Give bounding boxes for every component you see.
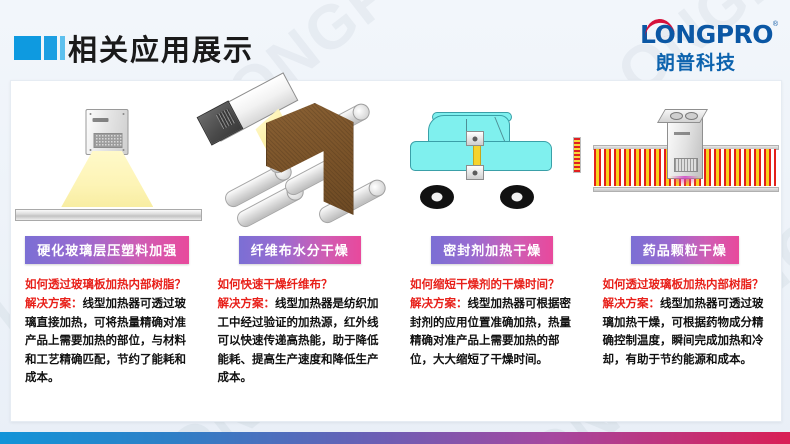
illustration-lamp-over-glass <box>11 81 204 233</box>
accent-bar-icon <box>14 36 41 60</box>
slide: LONGPRO LONGPRO LONGPRO LONGPRO LONGPRO … <box>0 0 790 444</box>
illustration-car-sealant <box>396 81 589 233</box>
panel-text: 如何缩短干燥剂的干燥时间？ 解决方案：线型加热器可根据密封剂的应用位置准确加热，… <box>396 267 589 368</box>
heater-brand-mark <box>93 118 109 122</box>
clamp-bolt-icon <box>473 136 478 141</box>
panel-answer: 解决方案：线型加热器可透过玻璃加热干燥，可根据药物成分精确控制温度，瞬间完成加热… <box>603 294 770 368</box>
brand-logo: LONGPRO ® 朗普科技 <box>640 22 776 70</box>
slide-header: 相关应用展示 LONGPRO ® 朗普科技 <box>0 0 790 80</box>
heater-port-icon <box>670 112 683 120</box>
page-title: 相关应用展示 <box>68 27 254 69</box>
badge-row: 密封剂加热干燥 <box>396 233 589 267</box>
panel-answer: 解决方案：线型加热器可根据密封剂的应用位置准确加热，热量精确对准产品上需要加热的… <box>410 294 577 368</box>
panel-question: 如何快速干燥纤维布？ <box>218 275 385 293</box>
conveyor-belt-bottom <box>593 187 780 192</box>
roller-cap-icon <box>349 101 372 124</box>
panel-question: 如何透过玻璃板加热内部树脂？ <box>25 275 192 293</box>
line-heater-icon <box>667 117 703 179</box>
badge-row: 纤维布水分干燥 <box>204 233 397 267</box>
car-scene <box>396 81 589 233</box>
wheel-hub-icon <box>432 193 443 202</box>
infrared-glow-icon <box>670 176 700 186</box>
fabric-scene <box>204 81 397 233</box>
registered-mark: ® <box>773 21 778 28</box>
heating-element-icon <box>573 137 581 173</box>
panel-text: 如何透过玻璃板加热内部树脂？ 解决方案：线型加热器可透过玻璃加热干燥，可根据药物… <box>589 267 782 368</box>
heater-port-icon <box>685 112 698 120</box>
answer-lead: 解决方案： <box>410 296 468 310</box>
screw-icon <box>90 113 92 115</box>
clamp-bolt-icon <box>473 170 478 175</box>
line-heater-icon <box>86 109 129 155</box>
roller-cap-icon <box>365 177 388 200</box>
badge-row: 药品颗粒干燥 <box>589 233 782 267</box>
heater-vent-icon <box>215 108 235 129</box>
panel-question: 如何缩短干燥剂的干燥时间？ <box>410 275 577 293</box>
panel-fabric-drying: 纤维布水分干燥 如何快速干燥纤维布？ 解决方案：线型加热器是纺织加工中经过验证的… <box>204 81 397 421</box>
panel-badge: 密封剂加热干燥 <box>431 236 553 264</box>
answer-lead: 解决方案： <box>25 296 83 310</box>
accent-bar-icon <box>60 36 65 60</box>
accent-bar-icon <box>44 36 57 60</box>
illustration-fabric-roller <box>204 81 397 233</box>
conveyor-scene <box>589 81 782 233</box>
heater-clamp-icon <box>466 131 484 146</box>
wheel-hub-icon <box>512 193 523 202</box>
screw-icon <box>123 149 125 151</box>
answer-lead: 解决方案： <box>218 296 276 310</box>
logo-chinese-text: 朗普科技 <box>656 48 736 75</box>
panel-answer: 解决方案：线型加热器是纺织加工中经过验证的加热源，红外线可以快速传递高热能，助于… <box>218 294 385 387</box>
panel-question: 如何透过玻璃板加热内部树脂？ <box>603 275 770 293</box>
heater-grille-icon <box>674 158 698 172</box>
panel-badge: 药品颗粒干燥 <box>631 236 739 264</box>
glass-panel-graphic <box>15 209 202 221</box>
heater-brand-mark <box>674 132 690 135</box>
illustration-granule-conveyor <box>589 81 782 233</box>
panel-badge: 硬化玻璃层压塑料加强 <box>25 236 189 264</box>
header-accent-bars <box>14 36 65 60</box>
badge-row: 硬化玻璃层压塑料加强 <box>11 233 204 267</box>
heater-clamp-icon <box>466 165 484 180</box>
car-wheel-icon <box>420 185 454 209</box>
panel-pharma-granule: 药品颗粒干燥 如何透过玻璃板加热内部树脂？ 解决方案：线型加热器可透过玻璃加热干… <box>589 81 782 421</box>
screw-icon <box>90 149 92 151</box>
panel-answer: 解决方案：线型加热器可透过玻璃直接加热，可将热量精确对准产品上需要加热的部位，与… <box>25 294 192 387</box>
answer-lead: 解决方案： <box>603 296 661 310</box>
panel-text: 如何透过玻璃板加热内部树脂？ 解决方案：线型加热器可透过玻璃直接加热，可将热量精… <box>11 267 204 387</box>
panel-sealant-drying: 密封剂加热干燥 如何缩短干燥剂的干燥时间？ 解决方案：线型加热器可根据密封剂的应… <box>396 81 589 421</box>
heater-grille-icon <box>94 133 123 148</box>
content-card: 硬化玻璃层压塑料加强 如何透过玻璃板加热内部树脂？ 解决方案：线型加热器可透过玻… <box>10 80 782 422</box>
screw-icon <box>123 113 125 115</box>
panel-text: 如何快速干燥纤维布？ 解决方案：线型加热器是纺织加工中经过验证的加热源，红外线可… <box>204 267 397 387</box>
footer-gradient-bar <box>0 432 790 444</box>
car-wheel-icon <box>500 185 534 209</box>
panel-glass-lamination: 硬化玻璃层压塑料加强 如何透过玻璃板加热内部树脂？ 解决方案：线型加热器可透过玻… <box>11 81 204 421</box>
panel-columns: 硬化玻璃层压塑料加强 如何透过玻璃板加热内部树脂？ 解决方案：线型加热器可透过玻… <box>11 81 781 421</box>
panel-badge: 纤维布水分干燥 <box>239 236 361 264</box>
heat-beam-icon <box>61 151 153 207</box>
